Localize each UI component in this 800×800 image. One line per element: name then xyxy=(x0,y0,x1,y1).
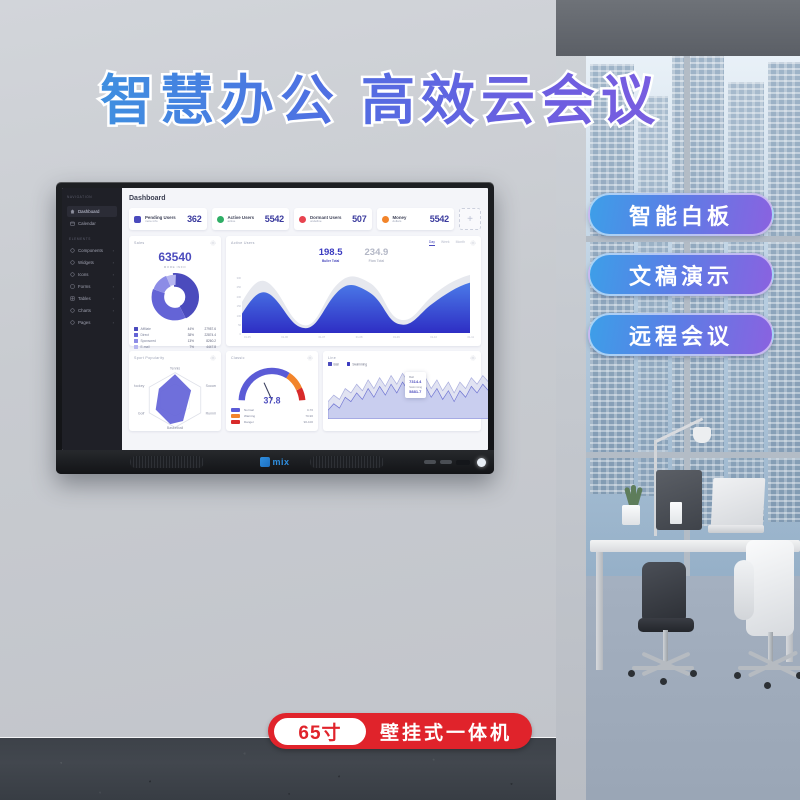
stat-sub: undefine xyxy=(310,220,341,223)
total-label: Flow Total xyxy=(365,259,389,263)
legend-range: 0-70 xyxy=(307,408,313,412)
stat-value: 362 xyxy=(187,214,201,224)
active-users-totals: 198.5 Buller Total 234.9 Flow Total xyxy=(231,247,476,263)
sidebar-item-widgets[interactable]: Widgets › xyxy=(67,257,117,268)
legend-label: Direct xyxy=(141,333,149,337)
gear-icon[interactable] xyxy=(210,240,216,246)
line-chart-card: Line Ball Swimming Ball xyxy=(323,351,481,431)
total-value: 234.9 xyxy=(365,247,389,258)
table-icon xyxy=(70,296,75,301)
stat-value: 5542 xyxy=(265,214,284,224)
legend-value: 27957.6 xyxy=(194,327,216,331)
chevron-right-icon: › xyxy=(113,308,114,313)
gauge-legend: Normal 0-70 Warning 70-90 xyxy=(231,407,313,425)
active-users-card: Active Users Day Week Month 198.5 Bull xyxy=(226,236,481,346)
gear-icon[interactable] xyxy=(307,355,313,361)
radar-label: Golf xyxy=(138,412,144,416)
chart-tooltip: Ball 7314.4 Swimming 5881.7 xyxy=(405,372,426,398)
calendar-icon xyxy=(70,221,75,226)
chevron-right-icon: › xyxy=(113,248,114,253)
donut-chart xyxy=(134,273,216,321)
coin-icon xyxy=(382,216,389,223)
legend-item: Danger 90-100 xyxy=(231,419,313,425)
total-value: 198.5 xyxy=(319,247,343,258)
window-mullion xyxy=(586,452,800,458)
gauge-chart-plot: 37.8 xyxy=(232,362,312,405)
chevron-right-icon: › xyxy=(113,260,114,265)
tooltip-value-2: 5881.7 xyxy=(409,389,422,395)
gauge-card: Classic 37.8 xyxy=(226,351,318,431)
gear-icon[interactable] xyxy=(470,240,476,246)
sidebar-item-forms[interactable]: Forms › xyxy=(67,281,117,292)
line-legend: Ball Swimming xyxy=(328,362,476,367)
star-icon xyxy=(70,272,75,277)
sales-card-header: Sales xyxy=(134,241,216,245)
radar-label: Soccer xyxy=(206,384,216,388)
sidebar-item-label: Tables xyxy=(78,296,91,301)
size-badge: 65寸 壁挂式一体机 xyxy=(268,713,532,749)
stat-card-money[interactable]: Money dollars 5542 xyxy=(377,208,455,230)
feature-pill-presentation[interactable]: 文稿演示 xyxy=(588,253,774,296)
chevron-right-icon: › xyxy=(113,272,114,277)
feature-pill-remote-meeting[interactable]: 远程会议 xyxy=(588,313,774,356)
legend-range: 90-100 xyxy=(304,420,313,424)
area-chart-plot xyxy=(242,273,470,333)
sidebar-item-icons[interactable]: Icons › xyxy=(67,269,117,280)
grid-icon xyxy=(70,248,75,253)
sales-value: 63540 xyxy=(134,250,216,264)
sidebar-item-tables[interactable]: Tables › xyxy=(67,293,117,304)
y-axis-labels: 300250200150100500 xyxy=(230,274,241,340)
form-icon xyxy=(70,284,75,289)
feature-pill-list: 智能白板 文稿演示 远程会议 xyxy=(588,193,784,373)
sidebar-item-dashboard[interactable]: Dashboard xyxy=(67,206,117,217)
feature-pill-whiteboard[interactable]: 智能白板 xyxy=(588,193,774,236)
sidebar-item-label: Forms xyxy=(78,284,90,289)
tab-day[interactable]: Day xyxy=(429,240,435,246)
brand-mark-icon xyxy=(260,457,270,467)
sidebar-item-label: Icons xyxy=(78,272,89,277)
sidebar-section-label: ELEMENTS xyxy=(69,237,117,241)
add-card-button[interactable]: + xyxy=(459,208,481,230)
sales-legend: Affiliate 44% 27957.6 Direct 38% 22874.4 xyxy=(134,326,216,350)
gear-icon[interactable] xyxy=(470,355,476,361)
sidebar-item-label: Calendar xyxy=(78,221,96,226)
chevron-right-icon: › xyxy=(113,320,114,325)
legend-pct: 44% xyxy=(178,327,194,331)
circle-icon xyxy=(217,216,224,223)
legend-item: Ball xyxy=(328,362,339,367)
sidebar-brand: NAVIGATION xyxy=(67,195,117,199)
line-card-header: Line xyxy=(328,356,476,360)
legend-label: Danger xyxy=(244,420,254,424)
dashboard-content: Dashboard Pending Users more info 362 xyxy=(122,188,488,450)
sidebar-item-label: Dashboard xyxy=(78,209,99,214)
x-axis-labels: 01-0501-0601-0701-0801-0901-1001-11 xyxy=(242,336,476,339)
sales-more-info: MORE INFO xyxy=(134,265,216,269)
legend-range: 70-90 xyxy=(305,414,313,418)
sidebar-item-calendar[interactable]: Calendar xyxy=(67,218,117,229)
tab-week[interactable]: Week xyxy=(441,240,450,246)
total-flow: 234.9 Flow Total xyxy=(365,247,389,263)
page-icon xyxy=(70,320,75,325)
radar-label: Tennis xyxy=(170,366,180,370)
sidebar: NAVIGATION Dashboard Calendar ELEMENTS C… xyxy=(62,188,122,450)
stat-card-row: Pending Users more info 362 Active Users… xyxy=(129,208,481,230)
bottom-chart-row: Sport Popularity Tennis Soccer Running B… xyxy=(129,351,481,431)
ir-sensor xyxy=(456,460,470,465)
badge-type-label: 壁挂式一体机 xyxy=(366,718,532,745)
stat-value: 5542 xyxy=(430,214,449,224)
sport-card-header: Sport Popularity xyxy=(134,356,216,360)
sidebar-item-label: Charts xyxy=(78,308,91,313)
sidebar-item-pages[interactable]: Pages › xyxy=(67,317,117,328)
radar-label: Hockey xyxy=(134,384,145,388)
dashboard-app: NAVIGATION Dashboard Calendar ELEMENTS C… xyxy=(62,188,488,450)
legend-item: Swimming xyxy=(347,362,367,367)
headline-wrap: 智慧办公 高效云会议 智慧办公 高效云会议 xyxy=(0,0,800,200)
legend-item: E-mail 7% 4447.8 xyxy=(134,344,216,350)
stat-card-pending-users[interactable]: Pending Users more info 362 xyxy=(129,208,207,230)
legend-label: E-mail xyxy=(141,345,150,349)
sidebar-item-components[interactable]: Components › xyxy=(67,245,117,256)
sidebar-item-charts[interactable]: Charts › xyxy=(67,305,117,316)
legend-label: Normal xyxy=(244,408,254,412)
legend-value: 8260.2 xyxy=(194,339,216,343)
laptop-screen xyxy=(711,478,766,528)
legend-pct: 13% xyxy=(178,339,194,343)
stat-sub: dollars xyxy=(393,220,407,223)
legend-pct: 38% xyxy=(178,333,194,337)
sales-card: Sales 63540 MORE INFO xyxy=(129,236,221,346)
total-buller: 198.5 Buller Total xyxy=(319,247,343,263)
legend-value: 22874.4 xyxy=(194,333,216,337)
dashboard-title: Dashboard xyxy=(129,195,481,202)
heart-icon xyxy=(299,216,306,223)
brand-logo: mix xyxy=(260,457,289,467)
pen-cup xyxy=(670,502,682,524)
radar-label: Running xyxy=(206,412,216,416)
sidebar-item-label: Components xyxy=(78,248,103,253)
widget-icon xyxy=(70,260,75,265)
display-bezel: mix xyxy=(56,450,494,474)
page-title: 智慧办公 高效云会议 xyxy=(100,66,700,136)
tab-month[interactable]: Month xyxy=(456,240,465,246)
legend-value: 4447.8 xyxy=(194,345,216,349)
legend-label: Ball xyxy=(334,363,339,367)
middle-chart-row: Sales 63540 MORE INFO xyxy=(129,236,481,346)
gear-icon[interactable] xyxy=(210,355,216,361)
laptop-base xyxy=(708,525,764,533)
legend-label: Affiliate xyxy=(141,327,151,331)
total-label: Buller Total xyxy=(319,259,343,263)
chevron-right-icon: › xyxy=(113,296,114,301)
legend-label: Swimming xyxy=(352,363,367,367)
sport-popularity-card: Sport Popularity Tennis Soccer Running B… xyxy=(129,351,221,431)
gauge-card-header: Classic xyxy=(231,356,313,360)
gauge-value: 37.8 xyxy=(263,395,280,405)
legend-pct: 7% xyxy=(178,345,194,349)
radar-label: Basketball xyxy=(167,426,184,429)
sidebar-item-label: Pages xyxy=(78,320,90,325)
plant-pot xyxy=(622,505,640,525)
desk-lamp-head xyxy=(693,427,711,443)
badge-size-value: 65寸 xyxy=(274,718,366,745)
chart-icon xyxy=(70,308,75,313)
speaker-grille-right xyxy=(310,456,384,468)
stat-card-active-users[interactable]: Active Users active 5542 xyxy=(212,208,290,230)
legend-label: Warning xyxy=(244,414,255,418)
speaker-grille-left xyxy=(130,456,204,468)
display-screen: NAVIGATION Dashboard Calendar ELEMENTS C… xyxy=(62,188,488,450)
radar-chart-plot: Tennis Soccer Running Basketball Golf Ho… xyxy=(134,363,216,429)
stat-sub: active xyxy=(228,220,255,223)
chart-range-tabs: Day Week Month xyxy=(429,240,465,246)
stat-value: 507 xyxy=(352,214,366,224)
brand-logo-text: mix xyxy=(272,457,289,467)
power-led-icon[interactable] xyxy=(477,458,486,467)
chair-dark-back xyxy=(642,562,686,624)
port-usb-1 xyxy=(424,460,436,464)
port-usb-2 xyxy=(440,460,452,464)
stat-sub: more info xyxy=(145,220,176,223)
wall-mounted-display: NAVIGATION Dashboard Calendar ELEMENTS C… xyxy=(56,182,494,474)
chevron-right-icon: › xyxy=(113,284,114,289)
sidebar-item-label: Widgets xyxy=(78,260,94,265)
stat-card-dormant-users[interactable]: Dormant Users undefine 507 xyxy=(294,208,372,230)
square-icon xyxy=(134,216,141,223)
home-icon xyxy=(70,209,75,214)
chair-white-arm xyxy=(734,560,754,620)
poster-scene: 智慧办公 高效云会议 智慧办公 高效云会议 智能白板 文稿演示 远程会议 65寸… xyxy=(0,0,800,800)
legend-label: Sponsored xyxy=(141,339,156,343)
